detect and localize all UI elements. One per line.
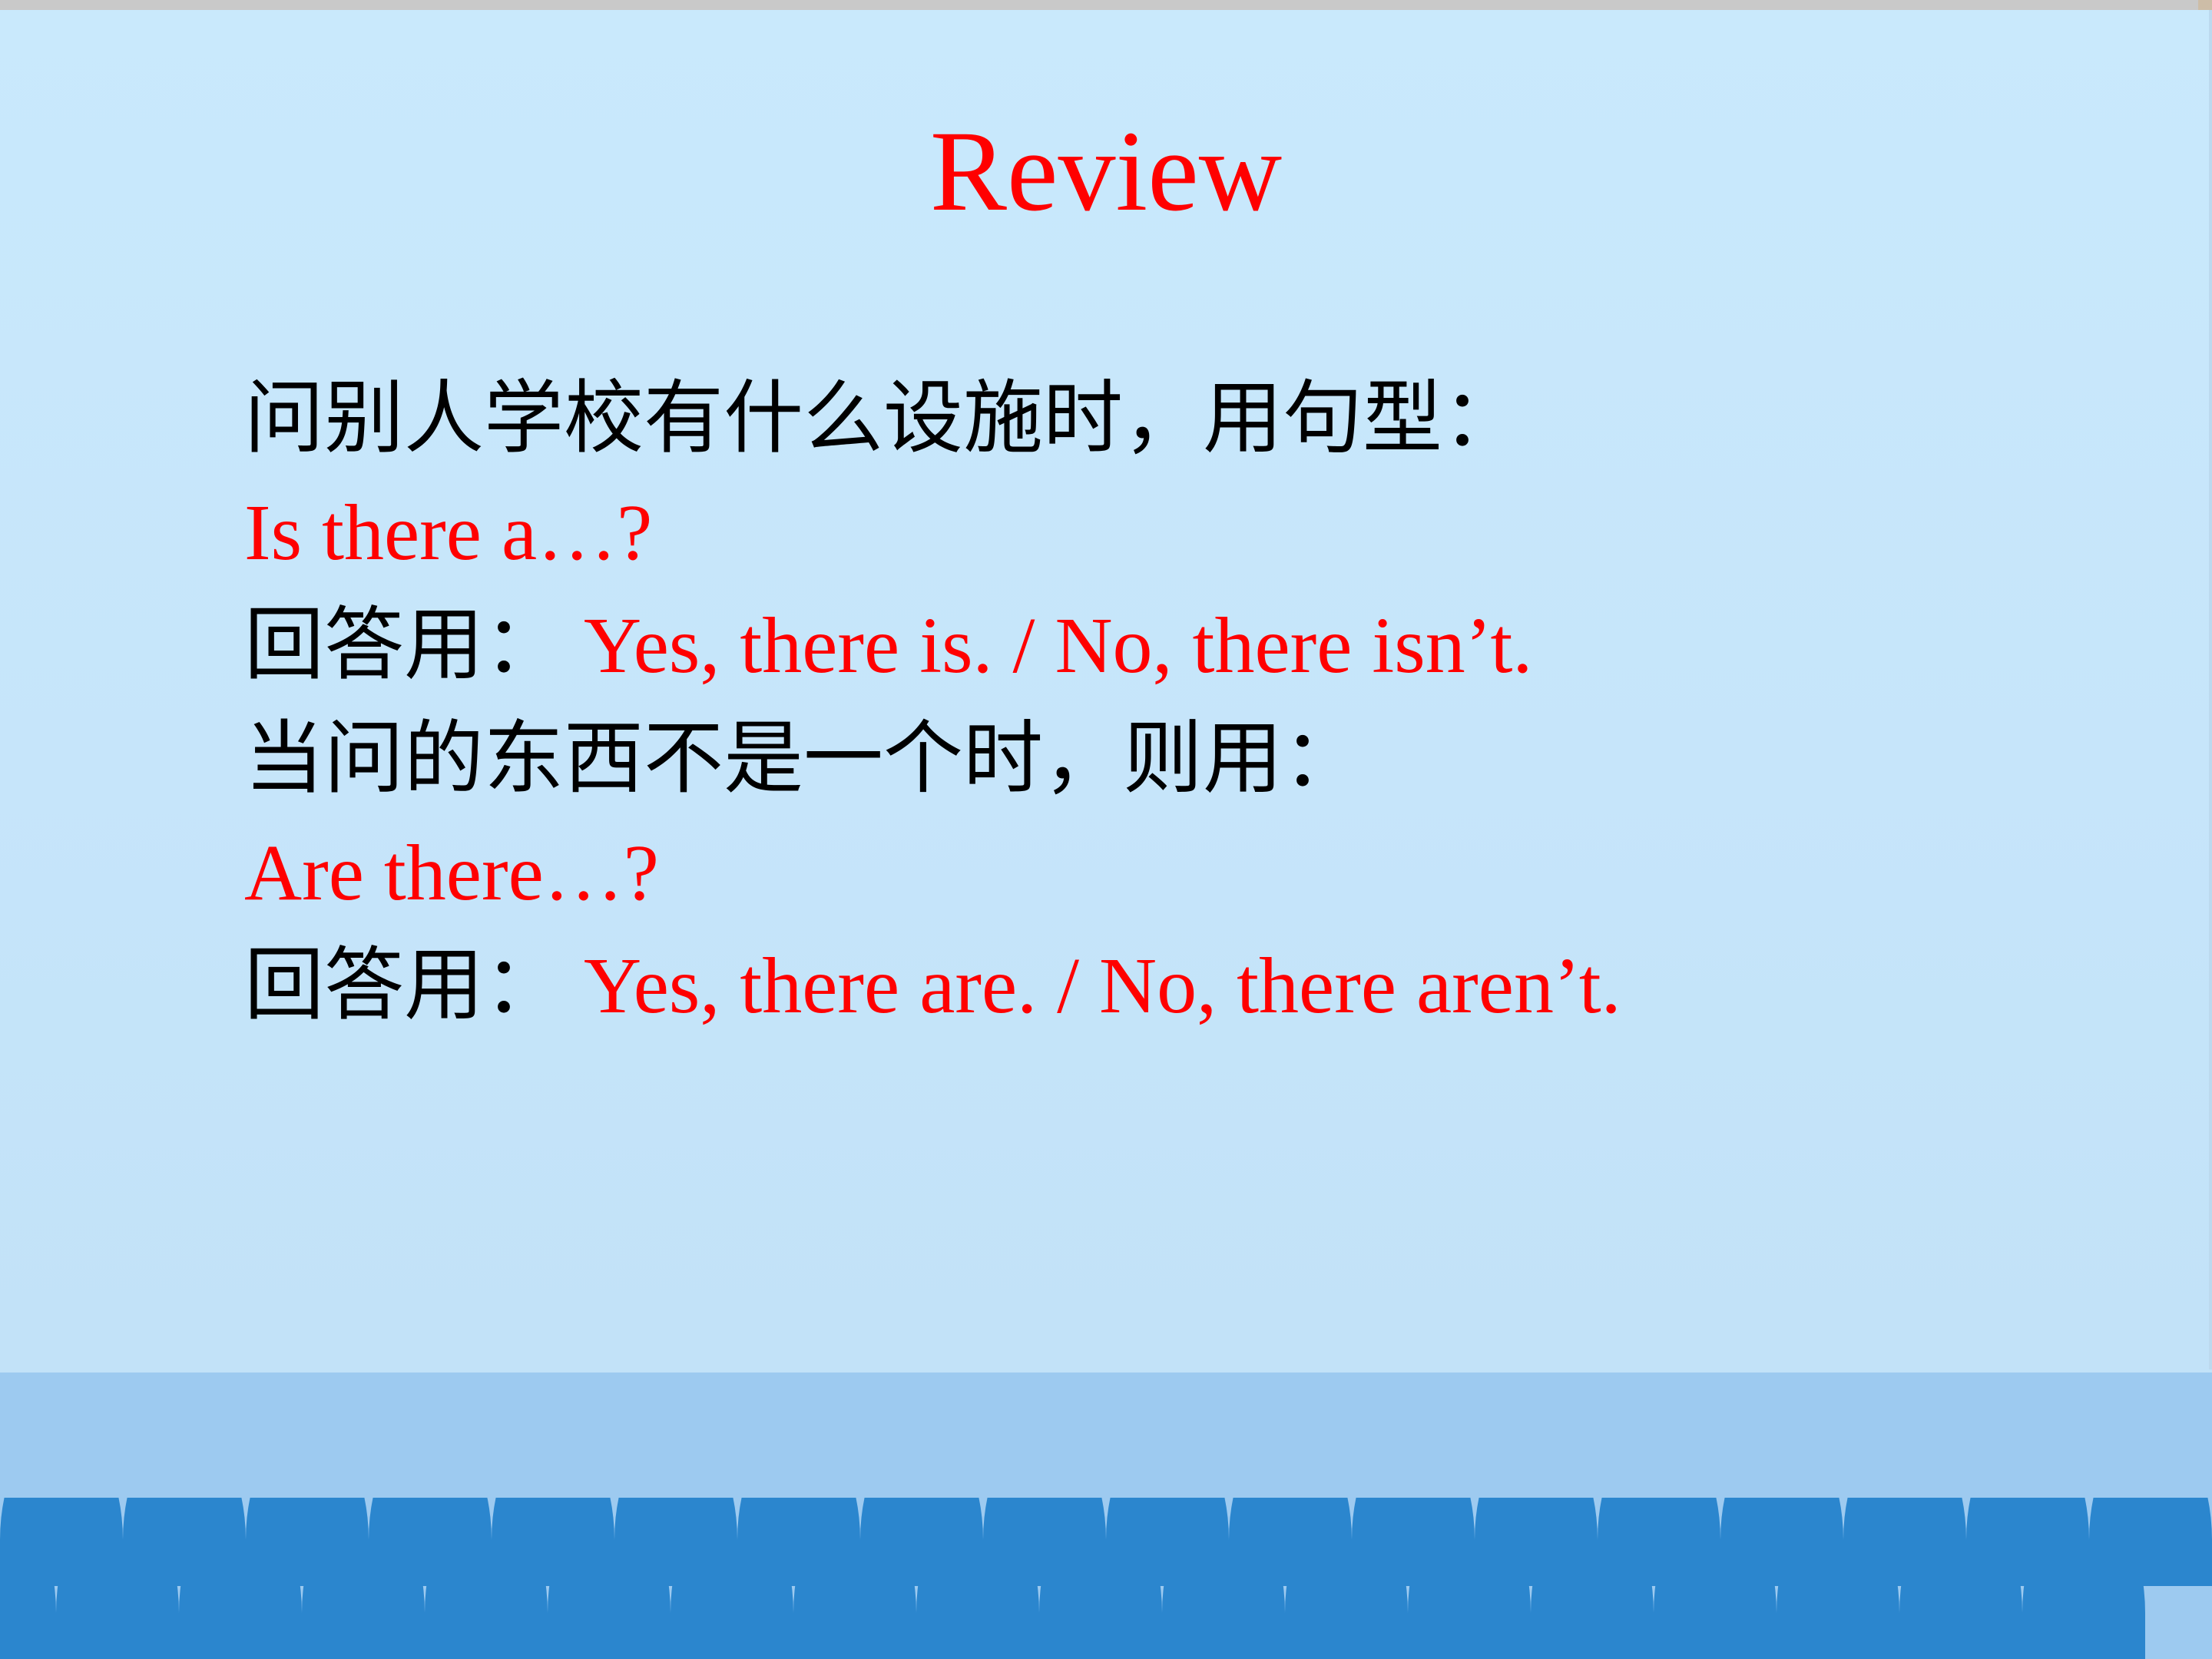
- window-top-strip: [0, 0, 2212, 10]
- line-5-english: Are there…?: [244, 829, 659, 917]
- scallop-arch: [1966, 1498, 2089, 1586]
- scallop-arch: [860, 1498, 983, 1586]
- scallop-arch: [1408, 1584, 1531, 1659]
- scallop-arch: [1531, 1584, 1654, 1659]
- line-6-english: Yes, there are. / No, there aren’t.: [564, 942, 1621, 1030]
- scallop-arch: [614, 1498, 737, 1586]
- scallop-arch: [1162, 1584, 1285, 1659]
- page-title: Review: [0, 114, 2212, 229]
- scallop-arch: [56, 1584, 179, 1659]
- scallop-arch: [1352, 1498, 1475, 1586]
- text-line-4: 当问的东西不是一个时，则用：: [244, 703, 2088, 816]
- scallop-arch: [1899, 1584, 2022, 1659]
- text-line-1: 问别人学校有什么设施时，用句型：: [244, 363, 2088, 476]
- scallop-arch: [793, 1584, 916, 1659]
- scallop-arch: [246, 1498, 369, 1586]
- text-line-3: 回答用： Yes, there is. / No, there isn’t.: [244, 589, 2088, 703]
- scallop-row-bottom: [0, 1584, 2212, 1659]
- scallop-arch: [1229, 1498, 1352, 1586]
- scallop-arch: [548, 1584, 671, 1659]
- scallop-arch: [425, 1584, 548, 1659]
- text-line-5: Are there…?: [244, 816, 2088, 930]
- scallop-arch: [1654, 1584, 1777, 1659]
- scallop-arch: [492, 1498, 614, 1586]
- scallop-arch: [1475, 1498, 1598, 1586]
- scallop-arch: [2022, 1584, 2145, 1659]
- scallop-arch: [1720, 1498, 1843, 1586]
- scallop-arch: [1106, 1498, 1229, 1586]
- scallop-arch: [179, 1584, 302, 1659]
- line-2-english: Is there a…?: [244, 488, 652, 577]
- text-line-2: Is there a…?: [244, 476, 2088, 590]
- scallop-arch: [2089, 1498, 2212, 1586]
- line-3-english: Yes, there is. / No, there isn’t.: [564, 601, 1532, 690]
- slide-canvas: Review 问别人学校有什么设施时，用句型： Is there a…? 回答用…: [0, 0, 2212, 1659]
- scallop-row-top: [0, 1498, 2212, 1586]
- scallop-arch: [1039, 1584, 1162, 1659]
- scallop-arch: [302, 1584, 425, 1659]
- scallop-arch: [916, 1584, 1039, 1659]
- scallop-arch: [983, 1498, 1106, 1586]
- scallop-arch: [1843, 1498, 1966, 1586]
- text-line-6: 回答用： Yes, there are. / No, there aren’t.: [244, 929, 2088, 1043]
- scallop-arch: [123, 1498, 246, 1586]
- scallop-arch: [1777, 1584, 1899, 1659]
- scallop-arch: [1598, 1498, 1720, 1586]
- scallop-arch: [737, 1498, 860, 1586]
- line-1-chinese: 问别人学校有什么设施时，用句型：: [244, 375, 1522, 463]
- line-3-chinese: 回答用：: [244, 601, 564, 690]
- scallop-arch: [369, 1498, 492, 1586]
- scallop-arch: [1285, 1584, 1408, 1659]
- line-4-chinese: 当问的东西不是一个时，则用：: [244, 715, 1363, 803]
- body-text-block: 问别人学校有什么设施时，用句型： Is there a…? 回答用： Yes, …: [244, 363, 2088, 1043]
- right-edge-rule: [2209, 10, 2212, 1369]
- line-6-chinese: 回答用：: [244, 942, 564, 1030]
- top-strip-tan-edge: [2198, 0, 2212, 10]
- scallop-arch: [0, 1498, 123, 1586]
- scallop-arch: [671, 1584, 793, 1659]
- scallop-arch: [0, 1584, 56, 1659]
